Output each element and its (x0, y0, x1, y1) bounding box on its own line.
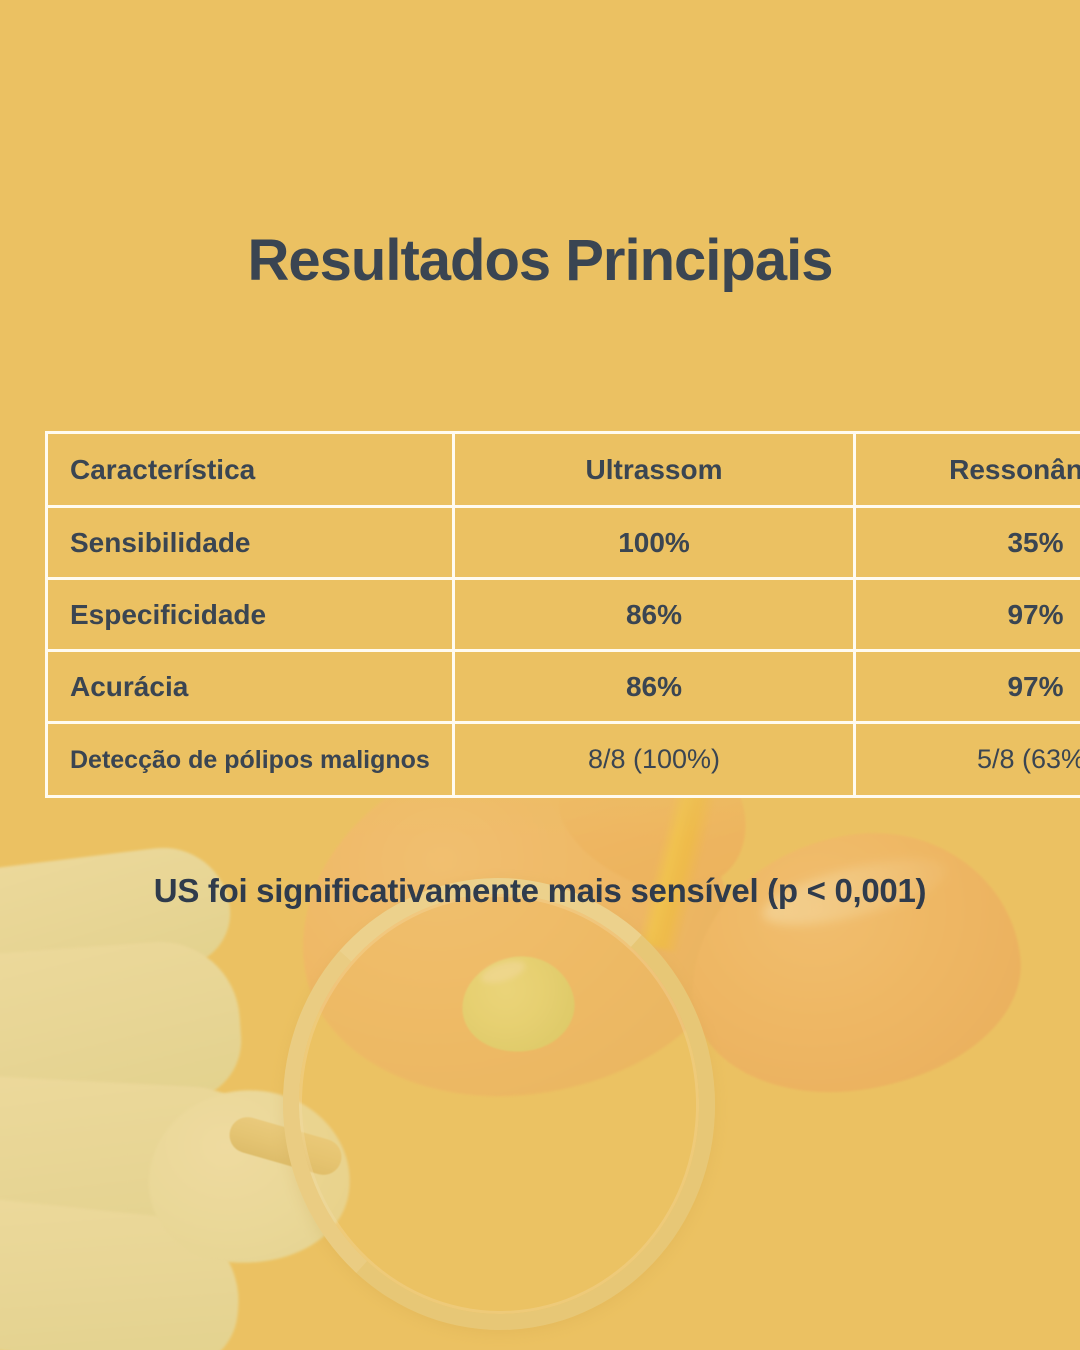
significance-caption: US foi significativamente mais sensível … (0, 872, 1080, 910)
cell-feature: Sensibilidade (48, 508, 452, 577)
cell-mri: 35% (856, 508, 1080, 577)
cell-feature: Acurácia (48, 652, 452, 721)
table-row: Especificidade 86% 97% (48, 580, 1080, 649)
column-header-mri: Ressonância (856, 434, 1080, 505)
cell-mri: 97% (856, 580, 1080, 649)
cell-mri: 97% (856, 652, 1080, 721)
cell-mri: 5/8 (63%) (856, 724, 1080, 795)
cell-ultrasound: 86% (455, 580, 853, 649)
cell-feature: Especificidade (48, 580, 452, 649)
cell-ultrasound: 100% (455, 508, 853, 577)
table-row: Acurácia 86% 97% (48, 652, 1080, 721)
table-header-row: Característica Ultrassom Ressonância (48, 434, 1080, 505)
table-row: Detecção de pólipos malignos 8/8 (100%) … (48, 724, 1080, 795)
column-header-feature: Característica (48, 434, 452, 505)
results-table: Característica Ultrassom Ressonância Sen… (45, 431, 1080, 798)
cell-feature: Detecção de pólipos malignos (48, 724, 452, 795)
cell-ultrasound: 8/8 (100%) (455, 724, 853, 795)
column-header-ultrasound: Ultrassom (455, 434, 853, 505)
cell-ultrasound: 86% (455, 652, 853, 721)
infographic-canvas: Resultados Principais Característica Ult… (0, 0, 1080, 1350)
table-row: Sensibilidade 100% 35% (48, 508, 1080, 577)
page-title: Resultados Principais (0, 227, 1080, 294)
